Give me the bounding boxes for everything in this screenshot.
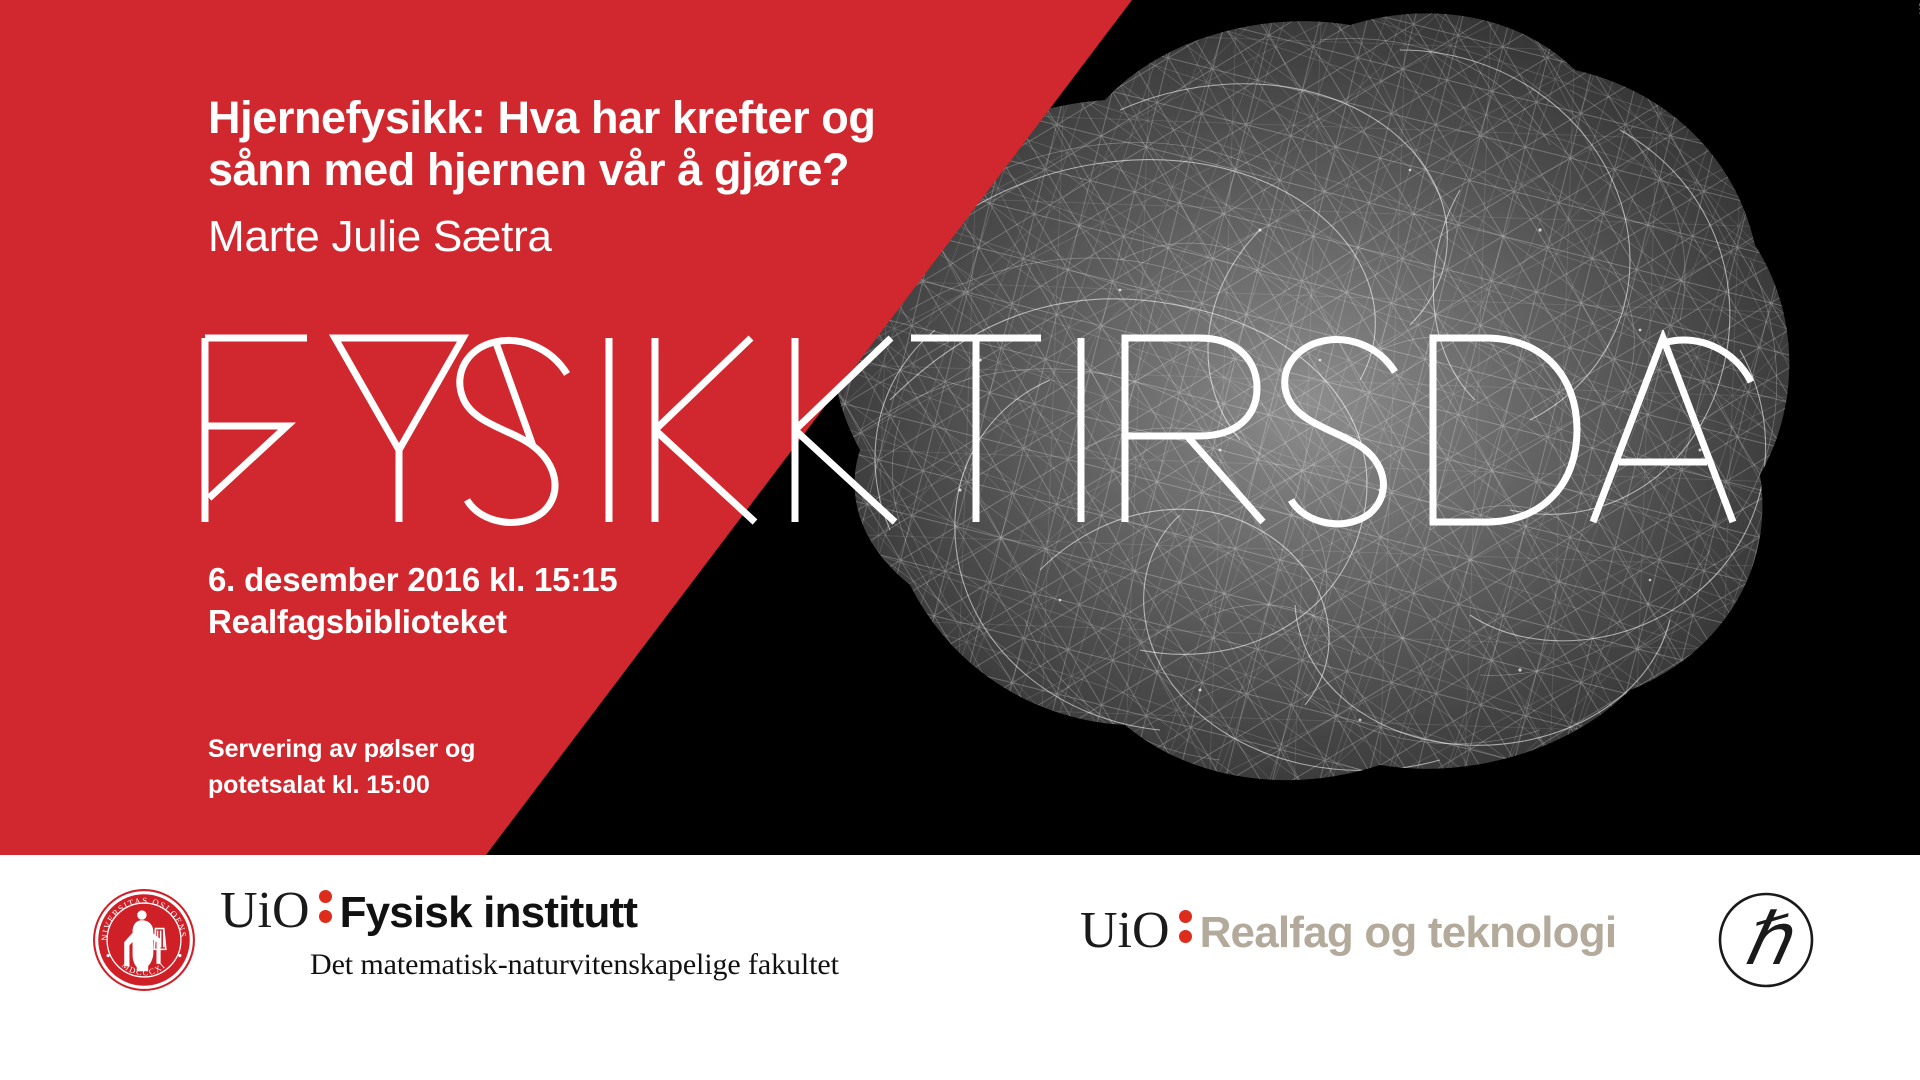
faculty-name: Det matematisk-naturvitenskapelige fakul… [310, 950, 839, 980]
poster-root: Hjernefysikk: Hva har krefter og sånn me… [0, 0, 1920, 1080]
hbar-logo-icon: ℏ [1716, 890, 1816, 990]
talk-title-line-1: Hjernefysikk: Hva har krefter og [208, 92, 1008, 144]
hbar-glyph: ℏ [1743, 900, 1794, 980]
photo-credit: Bilde: Colourbox [1916, 0, 1920, 14]
speaker-name: Marte Julie Sætra [208, 212, 552, 261]
unit-name-fysisk-institutt: Fysisk institutt [340, 891, 638, 935]
serving-note: Servering av pølser og potetsalat kl. 15… [208, 732, 475, 803]
uio-fi-row: UiO Fysisk institutt [220, 885, 839, 937]
logo-uio-fysisk-institutt: UNIVERSITAS OSLOENSIS MDCCCXI [92, 885, 839, 992]
uio-colon-icon-secondary [1179, 910, 1193, 943]
serving-note-line-1: Servering av pølser og [208, 732, 475, 768]
uio-wordmark: UiO [220, 885, 310, 937]
serving-note-line-2: potetsalat kl. 15:00 [208, 768, 475, 804]
talk-title: Hjernefysikk: Hva har krefter og sånn me… [208, 92, 1008, 196]
footer-logo-bar: UNIVERSITAS OSLOENSIS MDCCCXI [0, 855, 1920, 1080]
hero-section: Hjernefysikk: Hva har krefter og sånn me… [0, 0, 1920, 855]
photo-credit-source: Colourbox [1916, 0, 1920, 14]
uio-seal-icon: UNIVERSITAS OSLOENSIS MDCCCXI [92, 888, 196, 992]
logo-uio-realfag-og-teknologi: UiO Realfag og teknologi [1080, 905, 1616, 957]
uio-wordmark-secondary: UiO [1080, 905, 1170, 957]
fysikktirsdag-wordmark [195, 330, 1755, 530]
talk-title-line-2: sånn med hjernen vår å gjøre? [208, 144, 1008, 196]
uio-fi-textblock: UiO Fysisk institutt Det matematisk-natu… [220, 885, 839, 980]
event-date: 6. desember 2016 kl. 15:15 [208, 558, 617, 602]
uio-colon-icon [319, 890, 333, 923]
unit-name-realfag-og-teknologi: Realfag og teknologi [1200, 911, 1617, 955]
event-venue: Realfagsbiblioteket [208, 600, 507, 644]
